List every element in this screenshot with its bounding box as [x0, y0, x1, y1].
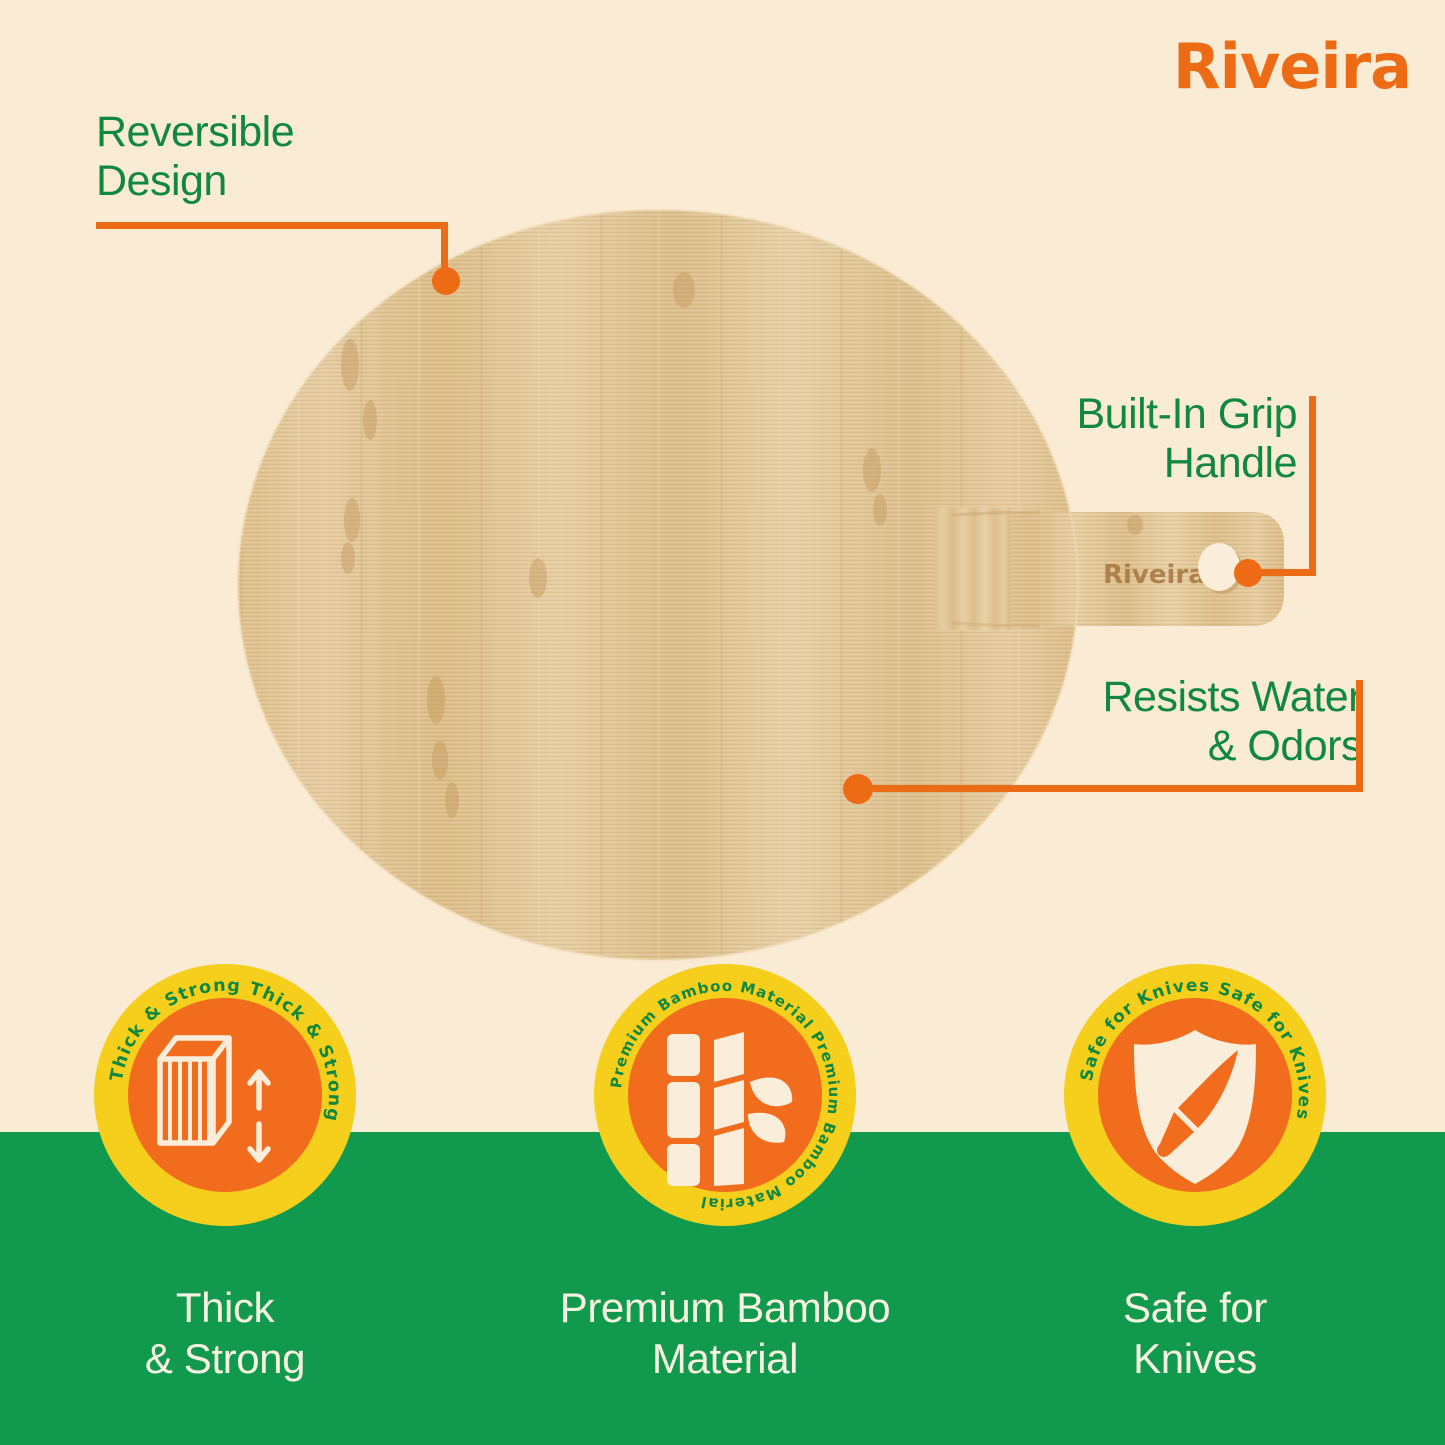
leader-line-vertical-2: [1309, 396, 1316, 576]
leader-dot-2: [1234, 559, 1262, 587]
badge-caption-safe-for-knives: Safe for Knives: [1030, 1282, 1360, 1384]
callout-label-resists-water-and-odors: Resists Water & Odors: [1103, 673, 1363, 771]
leader-line-horizontal-1: [96, 222, 448, 229]
leader-line-vertical-3: [1356, 680, 1363, 792]
engraved-brand-logo: Riveira: [1103, 560, 1206, 590]
infographic-canvas: Riveira: [0, 0, 1445, 1445]
leader-line-horizontal-3: [868, 785, 1363, 792]
leader-dot-3: [843, 774, 873, 804]
brand-logo: Riveira: [1173, 30, 1411, 103]
feature-badge-safe-for-knives: Safe for Knives Safe for Knives: [1062, 962, 1328, 1228]
badge-caption-premium-bamboo-material: Premium Bamboo Material: [520, 1282, 930, 1384]
board-silhouette: [238, 210, 1284, 960]
feature-badge-thick-and-strong: Thick & Strong Thick & Strong: [92, 962, 358, 1228]
leader-dot-1: [432, 267, 460, 295]
badge-inner-1: [128, 998, 322, 1192]
callout-label-reversible-design: Reversible Design: [96, 108, 294, 206]
callout-label-built-in-grip-handle: Built-In Grip Handle: [1076, 390, 1297, 488]
feature-badge-premium-bamboo-material: Premium Bamboo Material Premium Bamboo M…: [592, 962, 858, 1228]
badge-caption-thick-and-strong: Thick & Strong: [60, 1282, 390, 1384]
